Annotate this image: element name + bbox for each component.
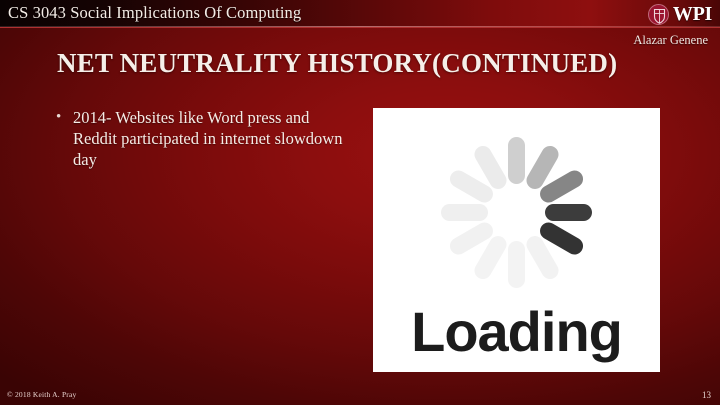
wpi-wordmark: WPI (673, 4, 712, 24)
bullet-list: • 2014- Websites like Word press and Red… (56, 107, 356, 170)
page-number: 13 (702, 390, 711, 400)
spinner-bar (441, 204, 488, 221)
list-item: • 2014- Websites like Word press and Red… (56, 107, 356, 170)
bullet-marker-icon: • (56, 107, 73, 128)
page-title: NET NEUTRALITY HISTORY(CONTINUED) (57, 48, 617, 79)
bullet-text: 2014- Websites like Word press and Reddi… (73, 107, 356, 170)
wpi-logo: WPI (648, 1, 712, 27)
slide-canvas: CS 3043 Social Implications Of Computing… (0, 0, 720, 405)
spinner-bar (508, 137, 525, 184)
copyright-notice: © 2018 Keith A. Pray (7, 390, 77, 399)
loading-spinner-image: Loading (373, 108, 660, 372)
loading-caption: Loading (373, 304, 660, 360)
presenter-name: Alazar Genene (633, 33, 708, 48)
wpi-crest-icon (648, 4, 669, 25)
spinner-bar (545, 204, 592, 221)
header-bar: CS 3043 Social Implications Of Computing… (0, 0, 720, 28)
course-title: CS 3043 Social Implications Of Computing (8, 3, 301, 23)
spinner-bar (508, 241, 525, 288)
